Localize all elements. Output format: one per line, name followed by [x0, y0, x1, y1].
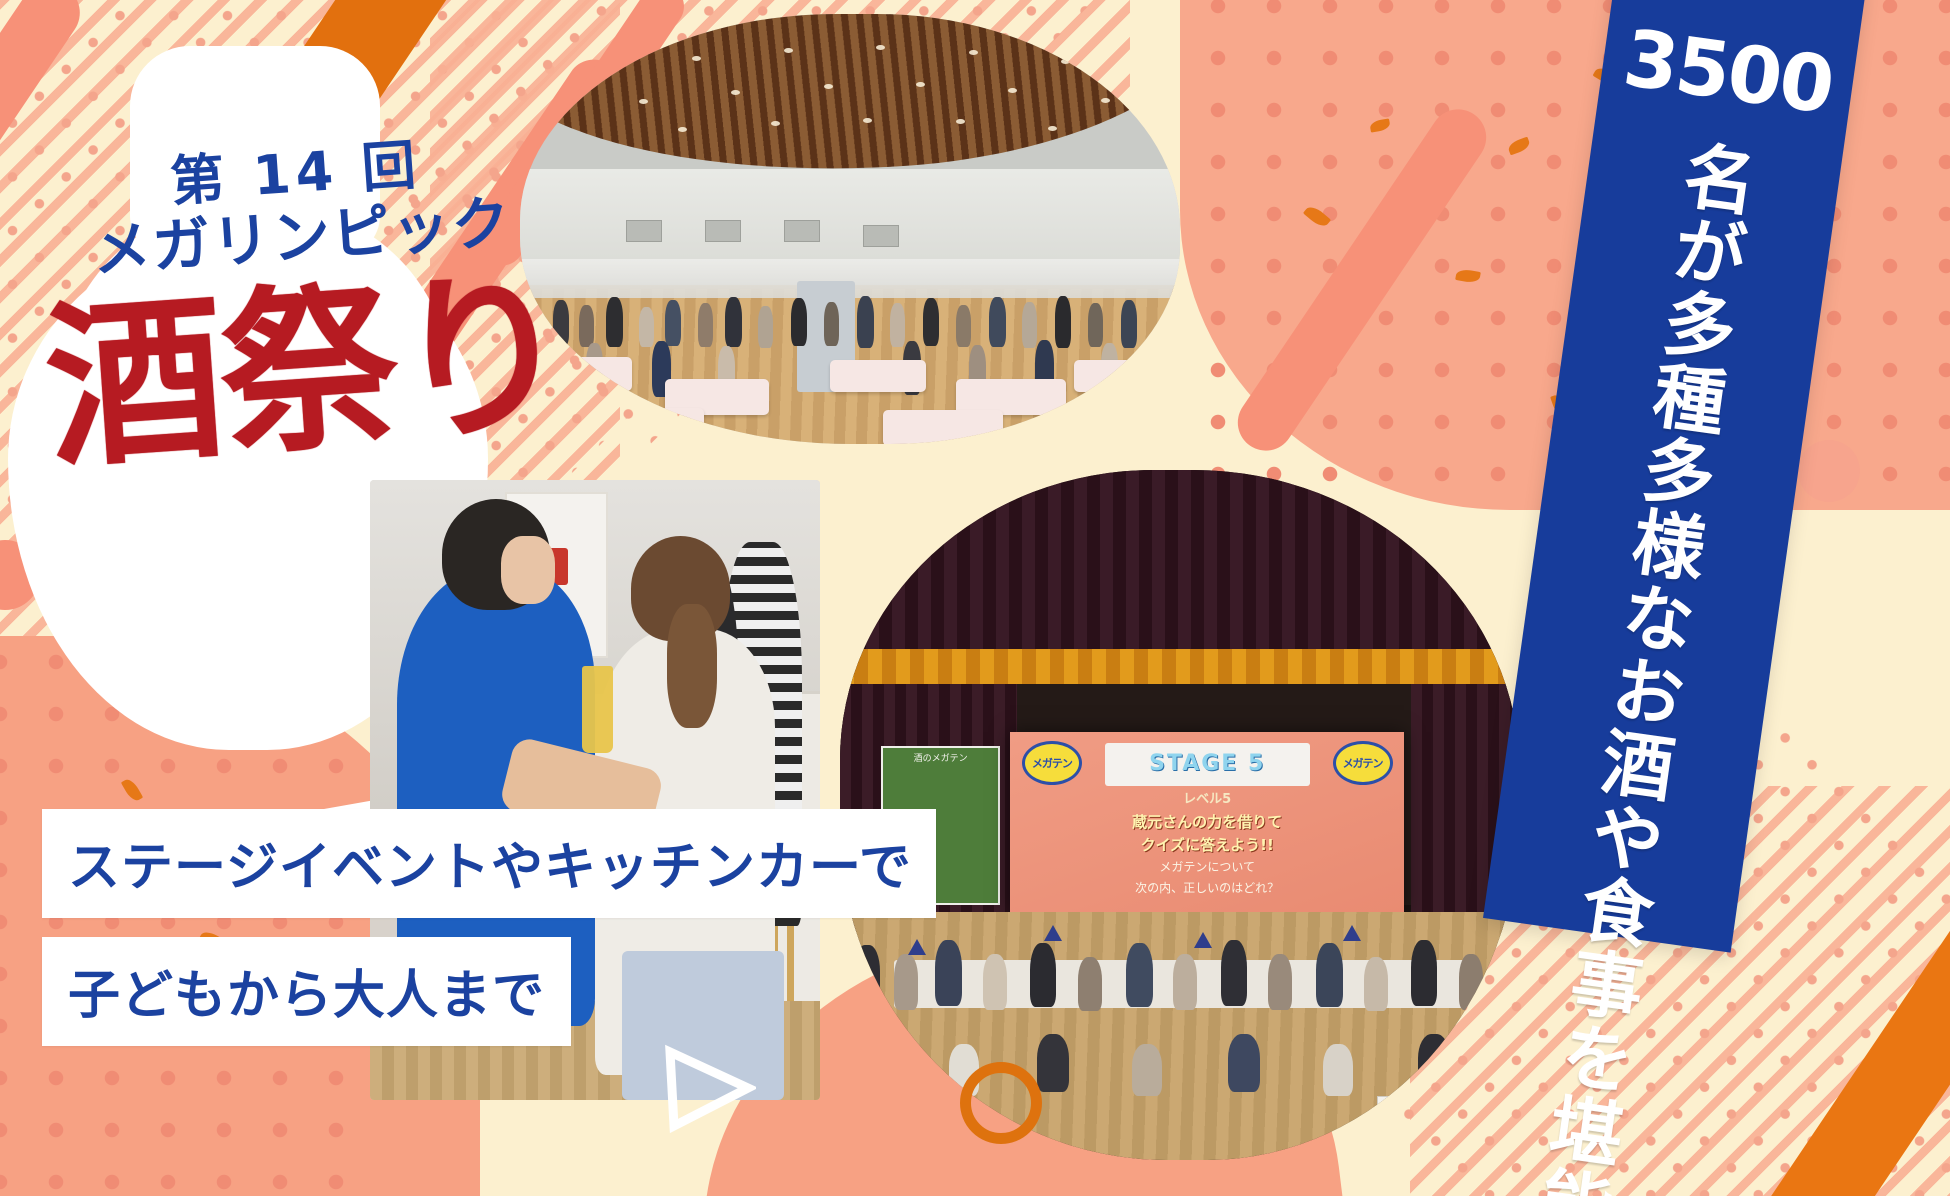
- triangle-outline-icon: [660, 1038, 756, 1134]
- hall-vent: [626, 220, 662, 242]
- hall-tables: [520, 324, 1180, 444]
- main-title: 酒祭り: [41, 272, 573, 472]
- megaten-logo-label: メガテン: [1032, 755, 1072, 771]
- stage-quiz-line-3: メガテンについて: [1034, 858, 1381, 875]
- poster-canvas: 酒のメガテン メガテン メガテン STAGE 5 レベル5 蔵元さんの力を借りて…: [0, 0, 1950, 1196]
- stage-level-label: レベル5: [1089, 788, 1326, 807]
- caption-box-all-ages: 子どもから大人まで: [42, 937, 571, 1046]
- stage-audience: [840, 884, 1520, 1119]
- megaten-logo-icon: メガテン: [1333, 741, 1393, 785]
- attendance-number: 3500: [1618, 14, 1838, 132]
- photo-stage-event: 酒のメガテン メガテン メガテン STAGE 5 レベル5 蔵元さんの力を借りて…: [840, 470, 1520, 1160]
- stage-green-sign-label: 酒のメガテン: [914, 751, 968, 764]
- caption-box-stage-event: ステージイベントやキッチンカーで: [42, 809, 936, 918]
- stage-quiz-line-1: 蔵元さんの力を借りて: [1034, 811, 1381, 832]
- stage-quiz-line-2: クイズに答えよう!!: [1034, 834, 1381, 855]
- stage-scene: 酒のメガテン メガテン メガテン STAGE 5 レベル5 蔵元さんの力を借りて…: [840, 470, 1520, 1160]
- stage-number-label: STAGE 5: [1105, 743, 1310, 786]
- stage-valance: [840, 649, 1520, 684]
- booth-beer-glass: [582, 666, 614, 753]
- ring-circle-icon: [960, 1062, 1042, 1144]
- hall-vent: [863, 225, 899, 247]
- caption-text-2: 子どもから大人まで: [68, 953, 545, 1028]
- rest-area-sign: 休憩所: [1377, 1096, 1445, 1132]
- caption-text-1: ステージイベントやキッチンカーで: [68, 825, 912, 900]
- headline-group: 第 14 回 メガリンピック: [80, 140, 560, 267]
- hall-vent: [784, 220, 820, 242]
- hall-ceiling-lights: [520, 31, 1180, 186]
- circle-accent-c: [1798, 440, 1860, 502]
- booth-guest-braid: [667, 604, 717, 728]
- megaten-logo-icon: メガテン: [1022, 741, 1082, 785]
- booth-staff-face: [501, 536, 555, 604]
- megaten-logo-label: メガテン: [1343, 755, 1383, 771]
- hall-vent: [705, 220, 741, 242]
- photo-event-hall: [520, 14, 1180, 444]
- rest-area-sign-label: 休憩所: [1398, 1108, 1425, 1121]
- hall-scene: [520, 14, 1180, 444]
